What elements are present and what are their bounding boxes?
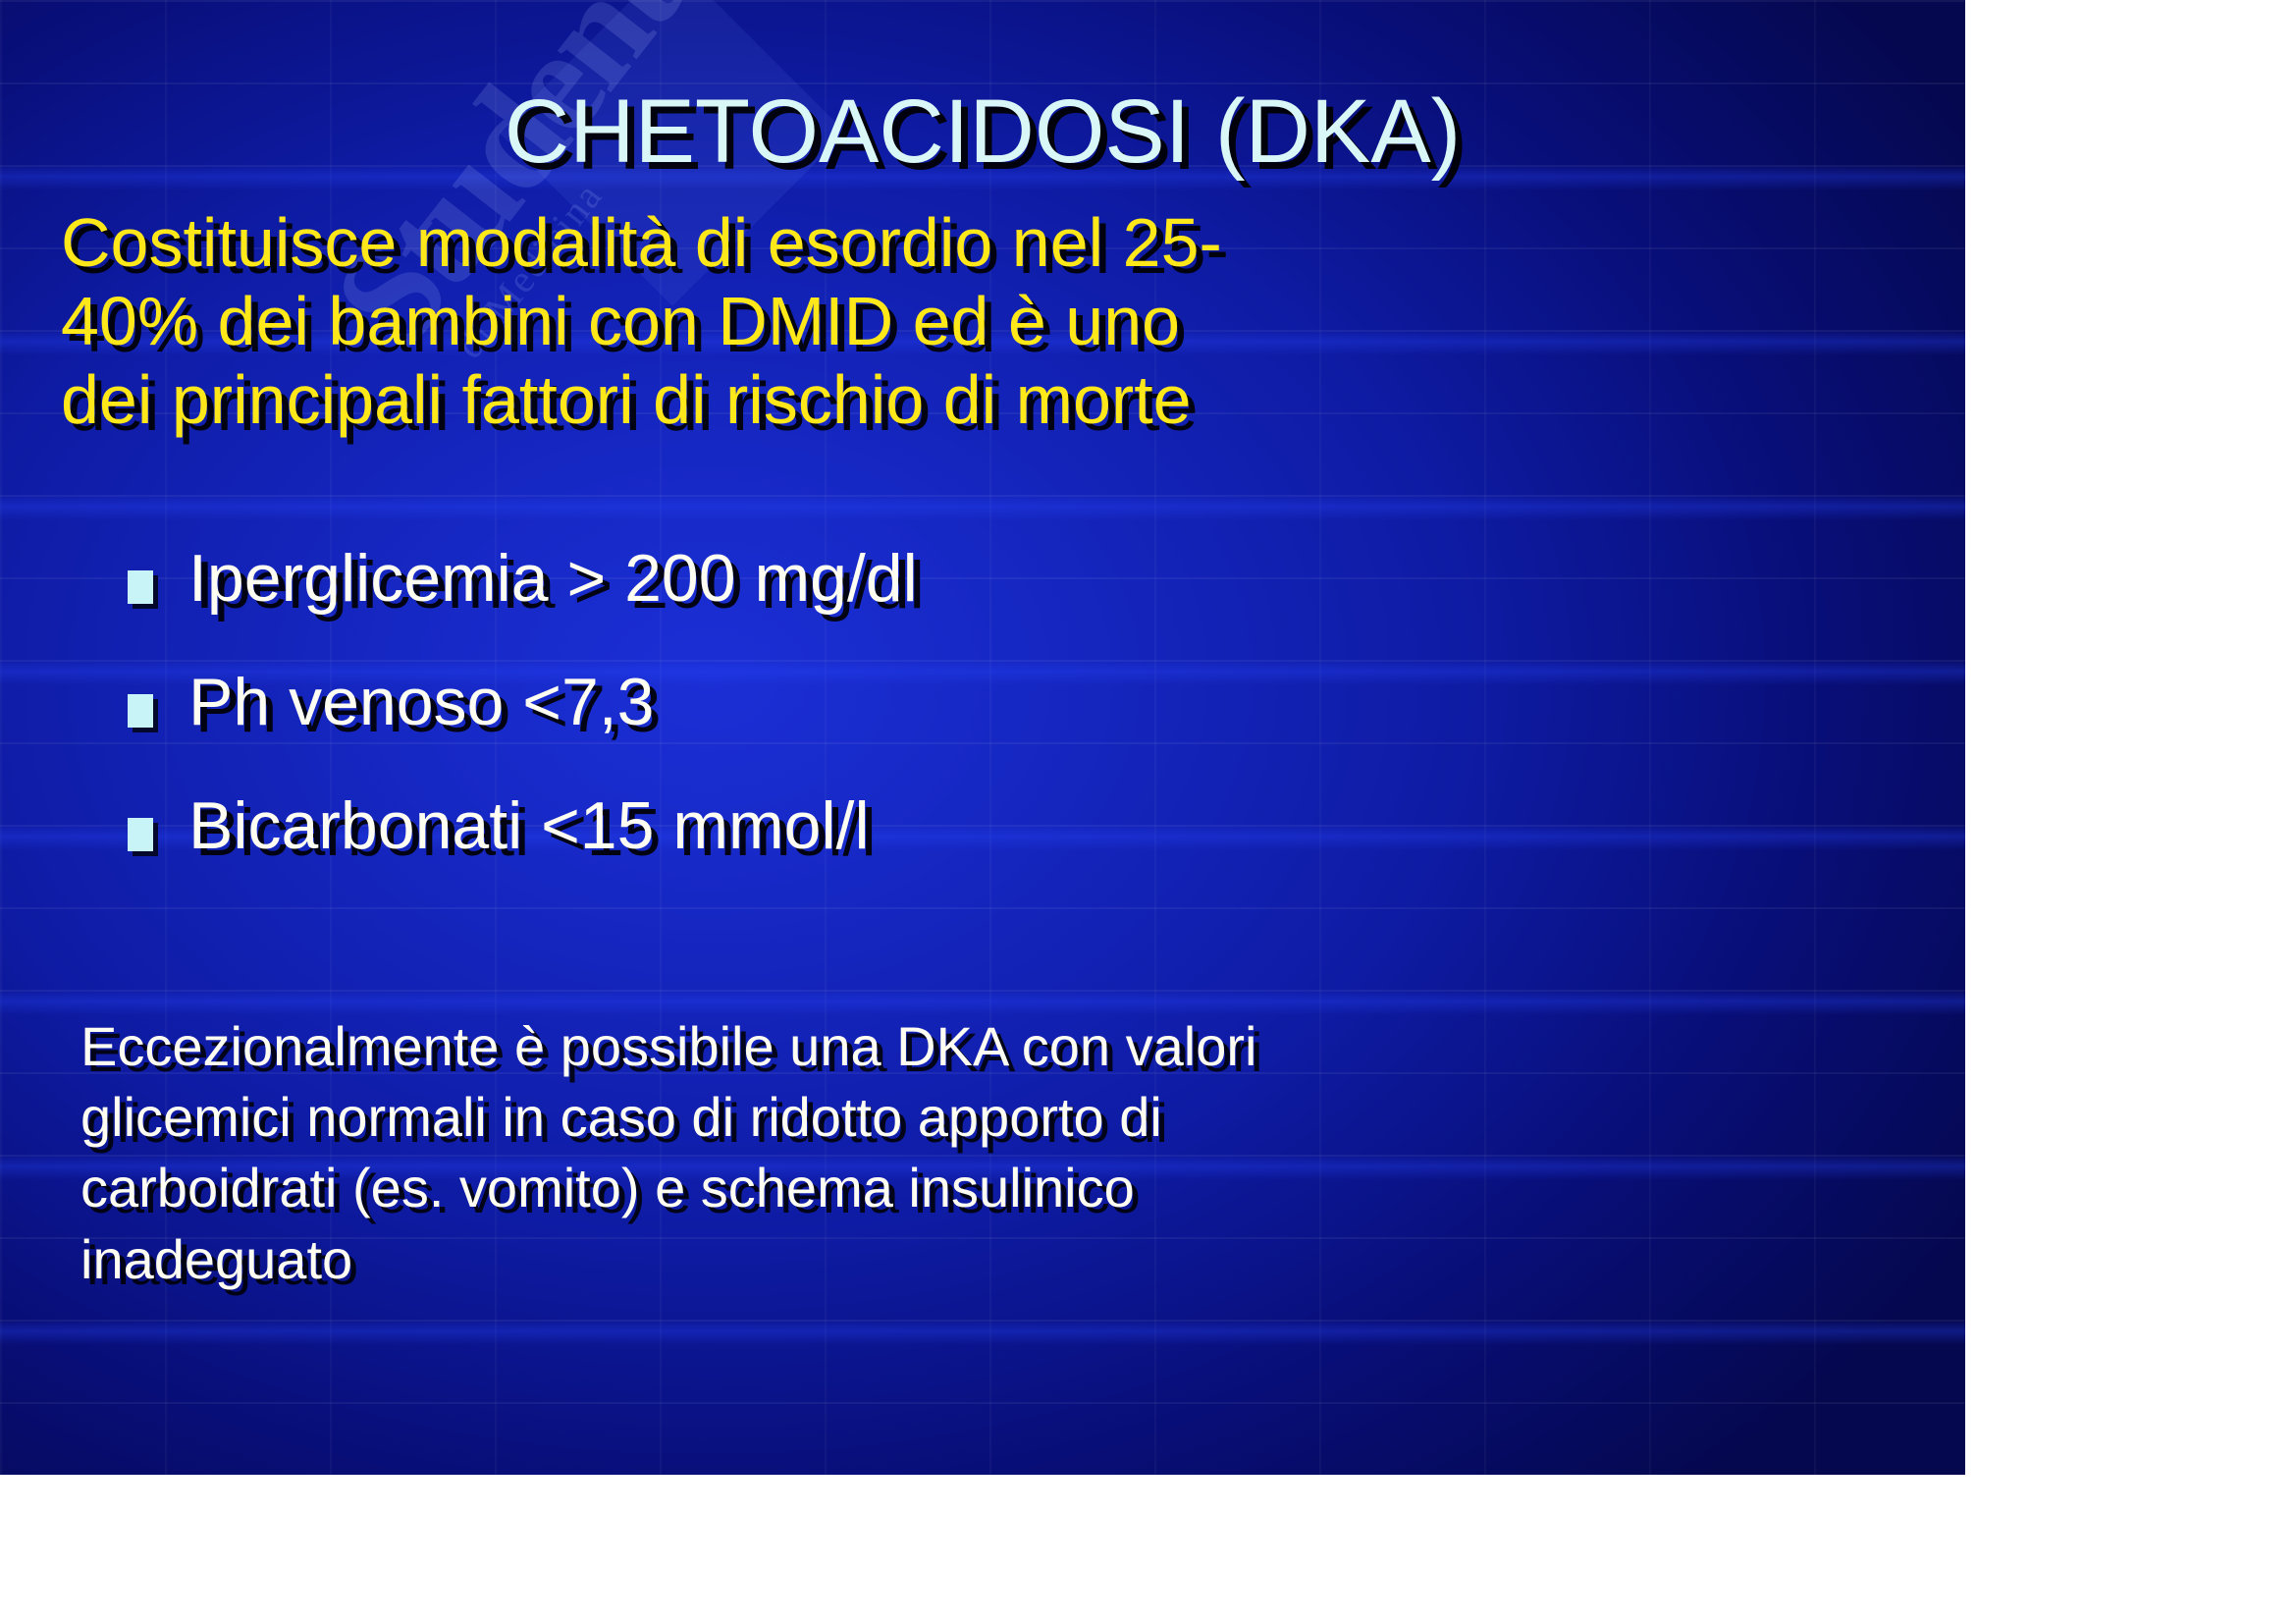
note-paragraph: Eccezionalmente è possibile una DKA con … bbox=[80, 1011, 1288, 1295]
list-item-label: Ph venoso <7,3 bbox=[188, 669, 654, 735]
slide-canvas: Studenti di Medicina CHETOACIDOSI (DKA) … bbox=[0, 0, 1965, 1475]
list-item-label: Bicarbonati <15 mmol/l bbox=[188, 792, 870, 859]
list-item: Iperglicemia > 200 mg/dl bbox=[128, 545, 1404, 631]
list-item: Bicarbonati <15 mmol/l bbox=[128, 792, 1404, 879]
intro-paragraph: Costituisce modalità di esordio nel 25-4… bbox=[61, 204, 1288, 439]
slide-title: CHETOACIDOSI (DKA) bbox=[0, 81, 1965, 184]
list-item: Ph venoso <7,3 bbox=[128, 669, 1404, 755]
criteria-list: Iperglicemia > 200 mg/dl Ph venoso <7,3 … bbox=[128, 545, 1404, 916]
square-bullet-icon bbox=[128, 818, 153, 851]
list-item-label: Iperglicemia > 200 mg/dl bbox=[188, 545, 918, 612]
square-bullet-icon bbox=[128, 570, 153, 604]
square-bullet-icon bbox=[128, 694, 153, 728]
